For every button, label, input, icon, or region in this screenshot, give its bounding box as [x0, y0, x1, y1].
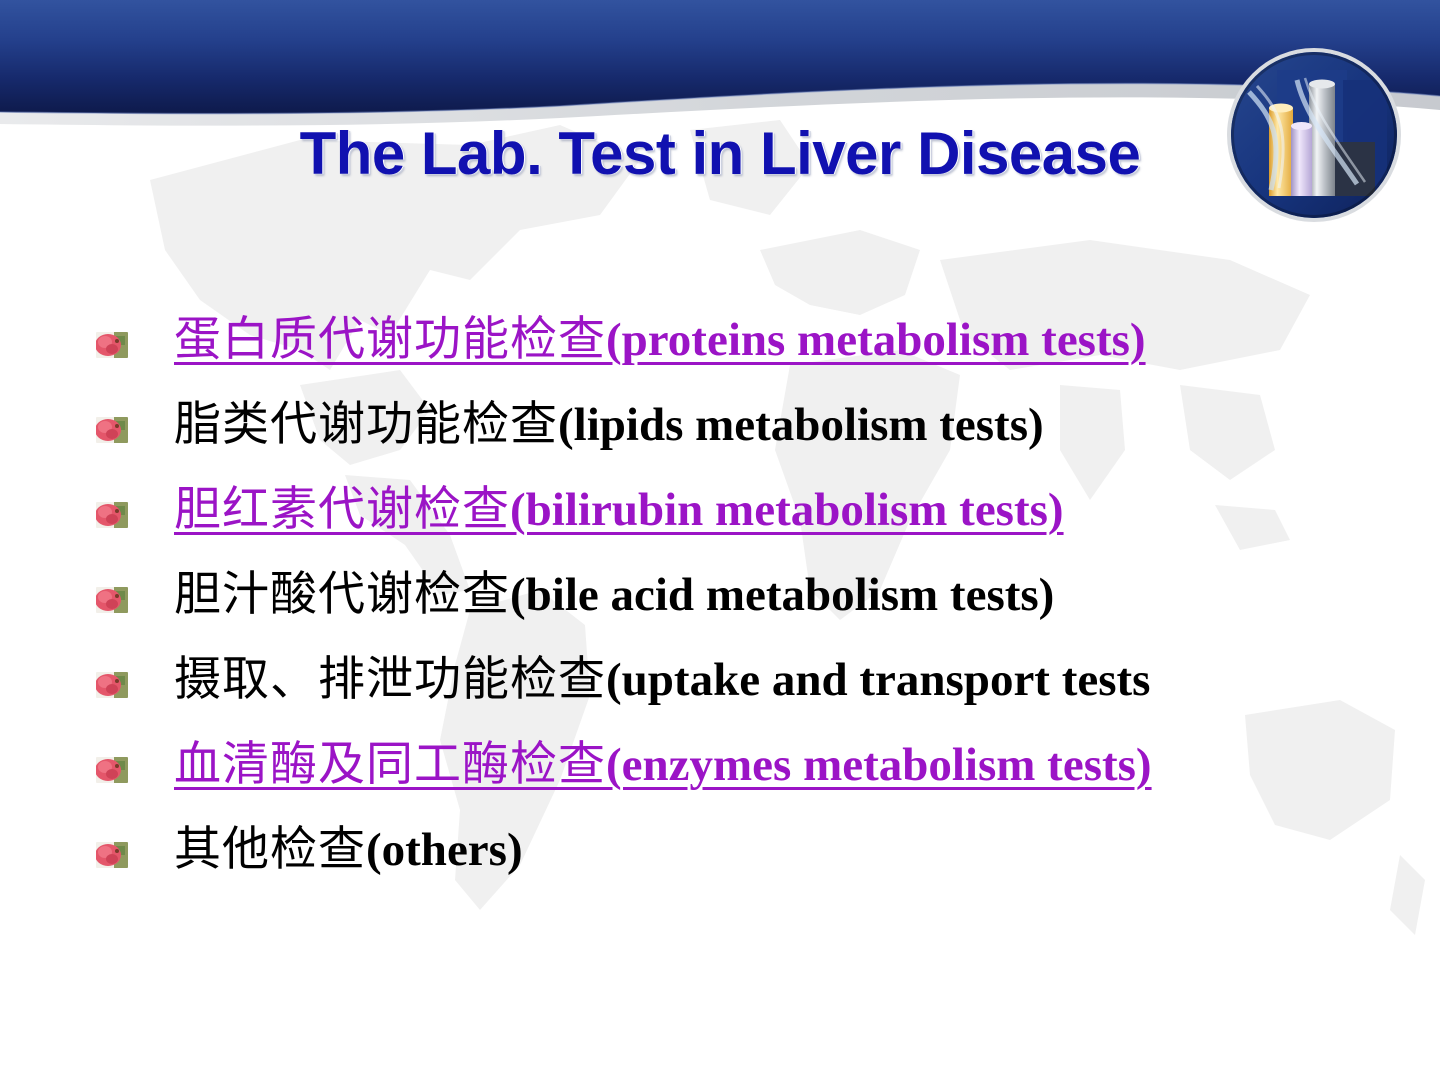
list-item-label: 其他检查(others)	[174, 826, 523, 875]
list-item-label: 胆汁酸代谢检查(bile acid metabolism tests)	[174, 571, 1054, 620]
rose-bullet-icon	[96, 502, 128, 528]
rose-bullet-icon	[96, 587, 128, 613]
list-item[interactable]: 摄取、排泄功能检查(uptake and transport tests	[96, 656, 1440, 741]
list-item-label: 摄取、排泄功能检查(uptake and transport tests	[174, 656, 1150, 705]
list-item-label: 脂类代谢功能检查(lipids metabolism tests)	[174, 401, 1044, 450]
list-item[interactable]: 胆红素代谢检查(bilirubin metabolism tests)	[96, 486, 1440, 571]
list-item-label: 胆红素代谢检查(bilirubin metabolism tests)	[174, 486, 1064, 535]
list-item[interactable]: 其他检查(others)	[96, 826, 1440, 911]
list-item[interactable]: 血清酶及同工酶检查(enzymes metabolism tests)	[96, 741, 1440, 826]
list-item-label: 蛋白质代谢功能检查(proteins metabolism tests)	[174, 316, 1146, 365]
rose-bullet-icon	[96, 417, 128, 443]
bullet-list: 蛋白质代谢功能检查(proteins metabolism tests) 脂类代…	[96, 316, 1440, 911]
list-item[interactable]: 脂类代谢功能检查(lipids metabolism tests)	[96, 401, 1440, 486]
rose-bullet-icon	[96, 332, 128, 358]
rose-bullet-icon	[96, 672, 128, 698]
rose-bullet-icon	[96, 842, 128, 868]
page-title: The Lab. Test in Liver Disease	[0, 124, 1440, 184]
list-item[interactable]: 蛋白质代谢功能检查(proteins metabolism tests)	[96, 316, 1440, 401]
list-item-label: 血清酶及同工酶检查(enzymes metabolism tests)	[174, 741, 1152, 790]
rose-bullet-icon	[96, 757, 128, 783]
list-item[interactable]: 胆汁酸代谢检查(bile acid metabolism tests)	[96, 571, 1440, 656]
presentation-slide: The Lab. Test in Liver Disease 蛋白质代谢功能检查…	[0, 0, 1440, 1080]
